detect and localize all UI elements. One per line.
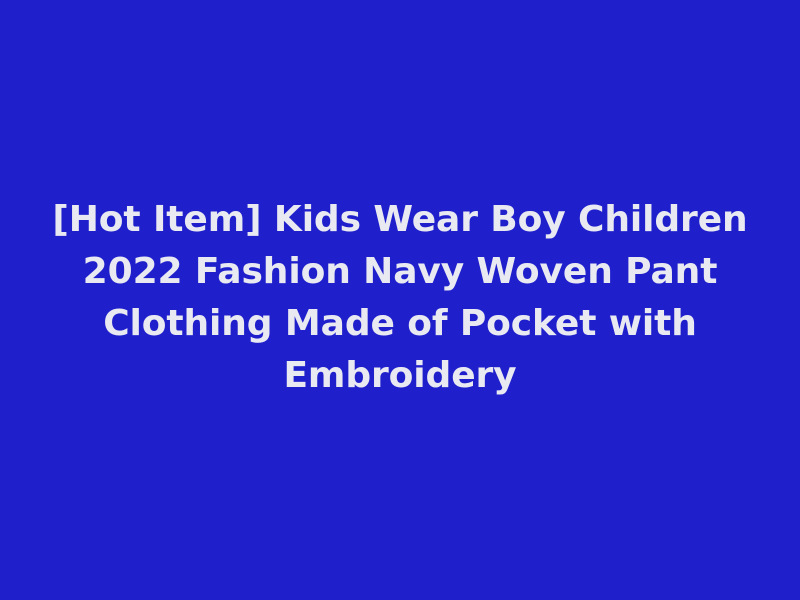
product-title-line-4: Embroidery	[40, 350, 760, 402]
product-title-line-1: [Hot Item] Kids Wear Boy Children	[40, 194, 760, 246]
product-title-card: [Hot Item] Kids Wear Boy Children 2022 F…	[0, 0, 800, 600]
product-title-line-3: Clothing Made of Pocket with	[40, 298, 760, 350]
product-title: [Hot Item] Kids Wear Boy Children 2022 F…	[40, 194, 760, 402]
product-title-line-2: 2022 Fashion Navy Woven Pant	[40, 246, 760, 298]
